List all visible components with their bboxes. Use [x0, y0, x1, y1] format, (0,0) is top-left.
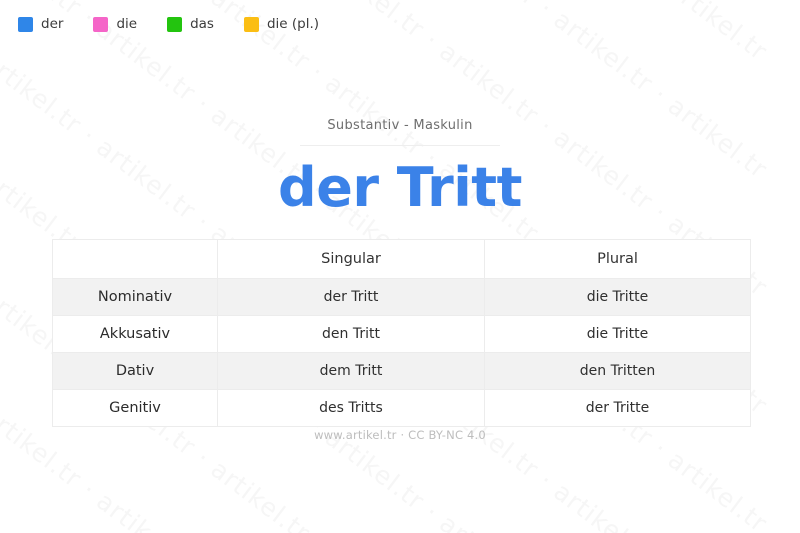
color-swatch-icon-der — [18, 17, 33, 32]
footer-credit: www.artikel.tr · CC BY-NC 4.0 — [0, 428, 800, 442]
table-row: Nominativder Trittdie Tritte — [53, 279, 751, 316]
cell-plural: die Tritte — [485, 316, 751, 353]
legend-label-die: die — [116, 18, 137, 32]
table-row: Akkusativden Trittdie Tritte — [53, 316, 751, 353]
article-color-legend: der die das die (pl.) — [18, 17, 349, 32]
color-swatch-icon-die-plural — [244, 17, 259, 32]
legend-label-die-plural: die (pl.) — [267, 18, 319, 32]
legend-item-die-plural: die (pl.) — [244, 17, 319, 32]
cell-plural: der Tritte — [485, 390, 751, 427]
color-swatch-icon-das — [167, 17, 182, 32]
table-header-row: Singular Plural — [53, 240, 751, 279]
legend-item-die: die — [93, 17, 137, 32]
legend-label-der: der — [41, 18, 63, 32]
table-row: Dativdem Trittden Tritten — [53, 353, 751, 390]
column-header-case — [53, 240, 218, 279]
legend-item-das: das — [167, 17, 214, 32]
declension-table: Singular Plural Nominativder Trittdie Tr… — [52, 239, 751, 427]
table-header: Singular Plural — [53, 240, 751, 279]
cell-singular: dem Tritt — [218, 353, 485, 390]
infographic-page: der die das die (pl.) Substantiv - Masku… — [0, 0, 800, 533]
header-divider — [300, 145, 500, 146]
color-swatch-icon-die — [93, 17, 108, 32]
legend-item-der: der — [18, 17, 63, 32]
cell-singular: den Tritt — [218, 316, 485, 353]
cell-singular: der Tritt — [218, 279, 485, 316]
cell-plural: die Tritte — [485, 279, 751, 316]
word-type-block: Substantiv - Maskulin — [0, 118, 800, 146]
legend-label-das: das — [190, 18, 214, 32]
cell-case: Akkusativ — [53, 316, 218, 353]
page-title: der Tritt — [0, 158, 800, 217]
table-row: Genitivdes Trittsder Tritte — [53, 390, 751, 427]
cell-case: Dativ — [53, 353, 218, 390]
word-type-label: Substantiv - Maskulin — [0, 118, 800, 133]
table-body: Nominativder Trittdie TritteAkkusativden… — [53, 279, 751, 427]
column-header-singular: Singular — [218, 240, 485, 279]
cell-case: Nominativ — [53, 279, 218, 316]
column-header-plural: Plural — [485, 240, 751, 279]
cell-singular: des Tritts — [218, 390, 485, 427]
cell-plural: den Tritten — [485, 353, 751, 390]
cell-case: Genitiv — [53, 390, 218, 427]
